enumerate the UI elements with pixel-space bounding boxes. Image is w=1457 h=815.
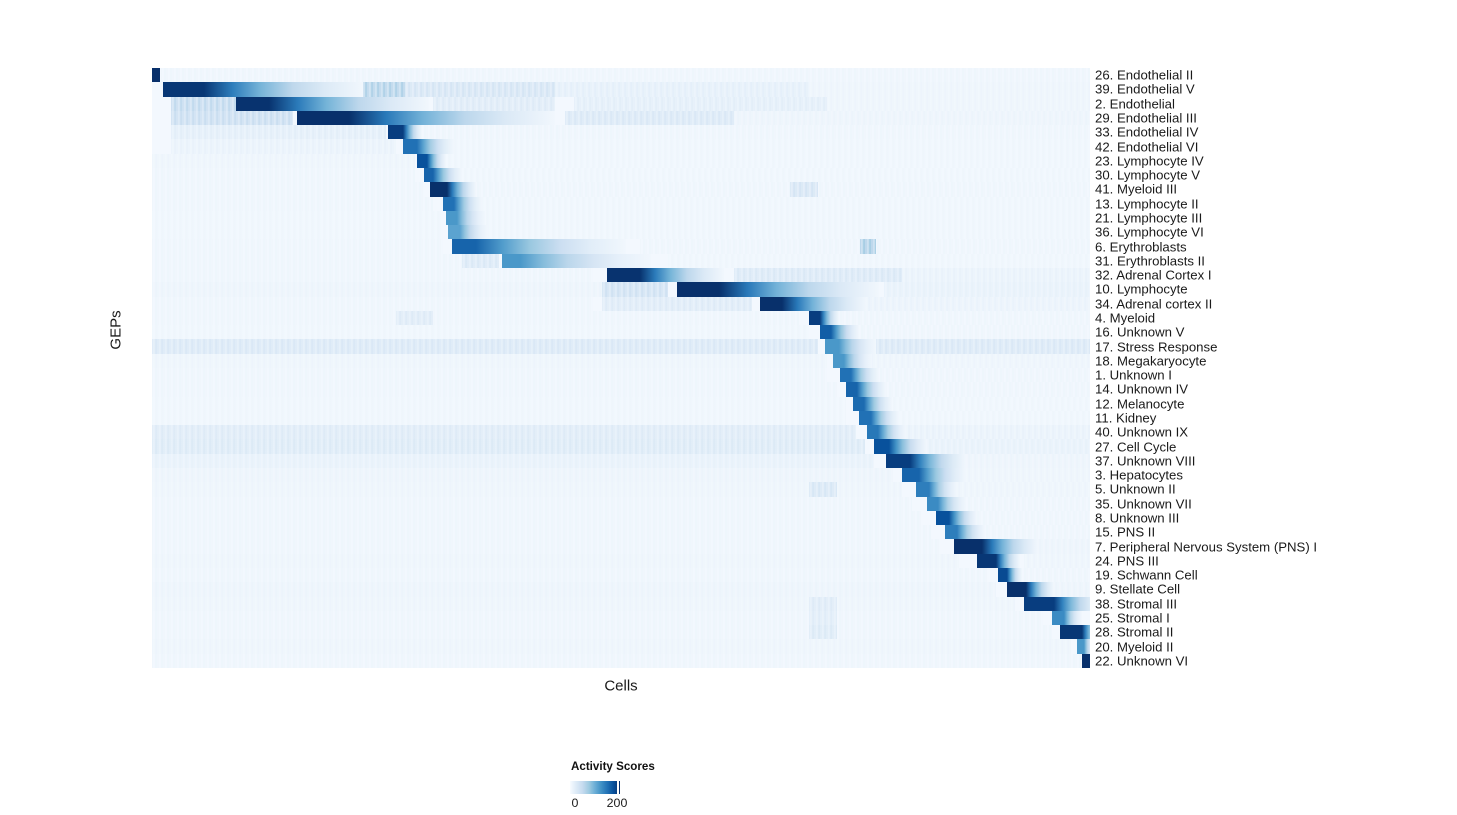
x-axis-label: Cells: [604, 678, 637, 695]
heatmap-background-band: [152, 339, 818, 354]
row-tick-label: 25. Stromal I: [1095, 612, 1170, 625]
heatmap-peak-block: [297, 111, 349, 126]
heatmap-background-band: [152, 154, 415, 169]
heatmap-background-band: [152, 625, 1052, 640]
row-tick-label: 24. PNS III: [1095, 554, 1159, 567]
row-tick-label: 26. Endothelial II: [1095, 69, 1193, 82]
heatmap-decay-tail: [851, 368, 879, 383]
colorbar-gradient: [570, 781, 620, 794]
row-tick-label: 1. Unknown I: [1095, 369, 1172, 382]
heatmap-decay-tail: [910, 454, 966, 469]
row-tick-label: 11. Kidney: [1095, 412, 1156, 425]
heatmap-row: [152, 211, 1090, 226]
row-tick-label: 22. Unknown VI: [1095, 654, 1188, 667]
heatmap-peak-block: [846, 382, 857, 397]
heatmap-row: [152, 482, 1090, 497]
heatmap-row: [152, 154, 1090, 169]
heatmap-peak-block: [448, 225, 459, 240]
heatmap-background-band: [152, 225, 443, 240]
row-tick-label: 16. Unknown V: [1095, 326, 1184, 339]
heatmap-peak-block: [867, 425, 878, 440]
heatmap-decay-tail: [1082, 625, 1090, 640]
heatmap-background-band: [152, 454, 874, 469]
heatmap-background-band: [856, 354, 1091, 369]
colorbar-tick-mark: [617, 781, 619, 794]
heatmap-decay-tail: [871, 411, 899, 426]
heatmap-row: [152, 468, 1090, 483]
heatmap-background-band: [959, 497, 1090, 512]
heatmap-decay-tail: [929, 482, 957, 497]
y-axis-label: GEPs: [108, 310, 125, 349]
heatmap-decay-tail: [844, 354, 872, 369]
heatmap-row: [152, 168, 1090, 183]
heatmap-background-band: [471, 225, 1090, 240]
heatmap-decay-tail: [878, 425, 906, 440]
heatmap-decay-tail: [839, 339, 877, 354]
heatmap-background-band: [809, 597, 837, 612]
row-tick-label: 6. Erythroblasts: [1095, 240, 1187, 253]
heatmap-background-band: [893, 411, 1090, 426]
heatmap-row: [152, 225, 1090, 240]
heatmap-peak-block: [945, 525, 957, 540]
heatmap-background-band: [152, 482, 902, 497]
heatmap-background-band: [152, 268, 593, 283]
heatmap-background-band: [152, 639, 1071, 654]
heatmap-row: [152, 554, 1090, 569]
heatmap-decay-tail: [831, 325, 859, 340]
heatmap-peak-block: [607, 268, 640, 283]
heatmap-background-band: [152, 168, 415, 183]
heatmap-peak-block: [417, 154, 426, 169]
heatmap-background-band: [152, 654, 1081, 668]
heatmap-decay-tail: [454, 197, 482, 212]
heatmap-peak-block: [760, 297, 783, 312]
heatmap-decay-tail: [996, 554, 1019, 569]
heatmap-background-band: [809, 611, 837, 626]
heatmap-decay-tail: [820, 311, 839, 326]
heatmap-decay-tail: [919, 468, 966, 483]
heatmap-row: [152, 97, 1090, 112]
heatmap-background-band: [152, 282, 602, 297]
heatmap-background-band: [809, 82, 1090, 97]
heatmap-background-band: [152, 354, 827, 369]
heatmap-background-band: [1052, 582, 1090, 597]
heatmap-row: [152, 111, 1090, 126]
row-tick-label: 41. Myeloid III: [1095, 183, 1177, 196]
heatmap-peak-block: [424, 168, 433, 183]
heatmap-background-band: [884, 397, 1090, 412]
heatmap-peak-block: [163, 82, 203, 97]
heatmap-background-band: [152, 468, 893, 483]
heatmap-decay-tail: [1064, 611, 1083, 626]
heatmap-background-band: [734, 268, 903, 283]
heatmap-peak-block: [677, 282, 719, 297]
heatmap-background-band: [152, 425, 856, 440]
row-tick-label: 10. Lymphocyte: [1095, 283, 1188, 296]
heatmap-peak-block: [840, 368, 851, 383]
colorbar-tick-label: 0: [572, 796, 579, 810]
heatmap-decay-tail: [427, 154, 446, 169]
heatmap-background-band: [462, 182, 1090, 197]
heatmap-row: [152, 611, 1090, 626]
heatmap-background-band: [565, 111, 734, 126]
heatmap-background-band: [152, 554, 959, 569]
heatmap-background-band: [152, 411, 846, 426]
heatmap-peak-block: [1077, 639, 1085, 654]
heatmap-background-band: [396, 311, 434, 326]
heatmap-background-band: [152, 397, 846, 412]
heatmap-row: [152, 125, 1090, 140]
heatmap-background-band: [959, 468, 1090, 483]
heatmap-row: [152, 425, 1090, 440]
heatmap-row: [152, 325, 1090, 340]
heatmap-background-band: [433, 139, 1090, 154]
heatmap-peak-block: [916, 482, 928, 497]
heatmap-row: [152, 582, 1090, 597]
heatmap-row: [152, 497, 1090, 512]
heatmap-background-band: [471, 197, 1090, 212]
heatmap-row: [152, 254, 1090, 269]
heatmap-peak-block: [430, 182, 448, 197]
heatmap-background-band: [959, 454, 1090, 469]
heatmap-background-band: [860, 239, 876, 254]
heatmap-decay-tail: [1007, 568, 1021, 583]
row-tick-label: 8. Unknown III: [1095, 512, 1179, 525]
heatmap-background-band: [152, 539, 940, 554]
heatmap-background-band: [152, 311, 799, 326]
heatmap-peak-block: [502, 254, 520, 269]
heatmap-decay-tail: [949, 511, 977, 526]
heatmap-row: [152, 639, 1090, 654]
heatmap-background-band: [884, 282, 1090, 297]
heatmap-peak-block: [936, 511, 949, 526]
heatmap-row: [152, 297, 1090, 312]
row-tick-label: 39. Endothelial V: [1095, 83, 1195, 96]
heatmap-peak-block: [954, 539, 982, 554]
row-tick-label: 5. Unknown II: [1095, 483, 1176, 496]
heatmap-background-band: [865, 297, 1090, 312]
heatmap-peak-block: [853, 397, 864, 412]
heatmap-background-band: [902, 439, 1090, 454]
heatmap-row: [152, 454, 1090, 469]
row-tick-label: 37. Unknown VIII: [1095, 454, 1195, 467]
heatmap-decay-tail: [403, 125, 422, 140]
heatmap-background-band: [161, 68, 1090, 83]
heatmap-decay-tail: [433, 168, 461, 183]
row-tick-label: 23. Lymphocyte IV: [1095, 154, 1204, 167]
heatmap-background-band: [443, 168, 1090, 183]
heatmap-decay-tail: [938, 497, 966, 512]
row-tick-label: 9. Stellate Cell: [1095, 583, 1180, 596]
heatmap-row: [152, 68, 1090, 83]
heatmap-peak-block: [998, 568, 1007, 583]
heatmap-decay-tail: [1026, 582, 1054, 597]
heatmap-background-band: [462, 254, 500, 269]
heatmap-decay-tail: [457, 211, 485, 226]
heatmap-decay-tail: [476, 239, 626, 254]
heatmap-background-band: [171, 139, 396, 154]
heatmap-background-band: [152, 611, 1043, 626]
row-tick-label: 28. Stromal II: [1095, 626, 1173, 639]
heatmap-peak-block: [1060, 625, 1083, 640]
heatmap-background-band: [152, 297, 593, 312]
row-tick-label: 21. Lymphocyte III: [1095, 212, 1202, 225]
heatmap-row: [152, 539, 1090, 554]
heatmap-background-band: [809, 625, 837, 640]
heatmap-figure: GEPs Cells 26. Endothelial II39. Endothe…: [0, 0, 1457, 815]
row-tick-label: 36. Lymphocyte VI: [1095, 226, 1204, 239]
heatmap-background-band: [949, 482, 1090, 497]
row-tick-label: 33. Endothelial IV: [1095, 126, 1198, 139]
heatmap-decay-tail: [1054, 597, 1090, 612]
heatmap-background-band: [171, 97, 237, 112]
heatmap-peak-block: [452, 239, 475, 254]
heatmap-decay-tail: [204, 82, 363, 97]
heatmap-background-band: [574, 97, 827, 112]
heatmap-row: [152, 439, 1090, 454]
heatmap-peak-block: [1007, 582, 1026, 597]
heatmap-background-band: [837, 311, 1090, 326]
colorbar-tick-labels: 0200: [570, 796, 690, 812]
heatmap-peak-block: [833, 354, 844, 369]
row-tick-label: 19. Schwann Cell: [1095, 569, 1198, 582]
heatmap-background-band: [968, 511, 1090, 526]
heatmap-decay-tail: [460, 225, 488, 240]
heatmap-background-band: [152, 511, 921, 526]
row-tick-label: 38. Stromal III: [1095, 597, 1177, 610]
heatmap-peak-block: [820, 325, 831, 340]
heatmap-decay-tail: [520, 254, 651, 269]
heatmap-row: [152, 597, 1090, 612]
heatmap-background-band: [893, 425, 1090, 440]
heatmap-row: [152, 182, 1090, 197]
heatmap-row: [152, 82, 1090, 97]
heatmap-peak-block: [388, 125, 403, 140]
heatmap-background-band: [152, 254, 462, 269]
heatmap-background-band: [602, 282, 668, 297]
heatmap-background-band: [827, 97, 1090, 112]
heatmap-background-band: [405, 82, 555, 97]
heatmap-peak-block: [1082, 654, 1090, 668]
heatmap-row: [152, 382, 1090, 397]
heatmap-background-band: [152, 568, 987, 583]
heatmap-peak-block: [886, 454, 910, 469]
heatmap-decay-tail: [417, 139, 455, 154]
heatmap-background-band: [846, 325, 1090, 340]
heatmap-background-band: [1015, 568, 1090, 583]
row-tick-label: 12. Melanocyte: [1095, 397, 1184, 410]
heatmap-background-band: [152, 439, 865, 454]
row-tick-label: 42. Endothelial VI: [1095, 140, 1198, 153]
heatmap-background-band: [790, 182, 818, 197]
heatmap-row: [152, 654, 1090, 668]
heatmap-decay-tail: [982, 539, 1038, 554]
heatmap-peak-block: [1024, 597, 1054, 612]
heatmap-row: [152, 397, 1090, 412]
heatmap-background-band: [433, 97, 555, 112]
heatmap-row: [152, 139, 1090, 154]
heatmap-background-band: [865, 368, 1090, 383]
row-tick-label: 14. Unknown IV: [1095, 383, 1188, 396]
heatmap-row: [152, 625, 1090, 640]
heatmap-background-band: [152, 182, 424, 197]
heatmap-peak-block: [236, 97, 269, 112]
row-tick-label: 20. Myeloid II: [1095, 640, 1173, 653]
heatmap-decay-tail: [857, 382, 885, 397]
heatmap-background-band: [415, 125, 1090, 140]
heatmap-row: [152, 411, 1090, 426]
row-tick-label: 29. Endothelial III: [1095, 112, 1197, 125]
row-tick-label: 7. Peripheral Nervous System (PNS) I: [1095, 540, 1317, 553]
heatmap-background-band: [171, 111, 293, 126]
heatmap-background-band: [152, 525, 931, 540]
heatmap-peak-block: [809, 311, 820, 326]
row-tick-label: 15. PNS II: [1095, 526, 1155, 539]
colorbar-tick-label: 200: [607, 796, 628, 810]
row-tick-label: 31. Erythroblasts II: [1095, 254, 1205, 267]
heatmap-peak-block: [977, 554, 996, 569]
heatmap-background-band: [171, 125, 387, 140]
heatmap-row: [152, 339, 1090, 354]
heatmap-row: [152, 197, 1090, 212]
heatmap-decay-tail: [889, 439, 927, 454]
row-tick-labels: 26. Endothelial II39. Endothelial V2. En…: [1095, 68, 1455, 668]
row-tick-label: 34. Adrenal cortex II: [1095, 297, 1212, 310]
heatmap-peak-block: [874, 439, 889, 454]
row-tick-label: 35. Unknown VII: [1095, 497, 1192, 510]
heatmap-background-band: [152, 597, 1015, 612]
row-tick-label: 3. Hepatocytes: [1095, 469, 1183, 482]
heatmap-plot-area[interactable]: [152, 68, 1090, 668]
heatmap-decay-tail: [1084, 639, 1090, 654]
heatmap-decay-tail: [782, 297, 866, 312]
row-tick-label: 32. Adrenal Cortex I: [1095, 269, 1212, 282]
heatmap-peak-block: [446, 211, 457, 226]
heatmap-decay-tail: [349, 111, 555, 126]
heatmap-peak-block: [927, 497, 938, 512]
heatmap-background-band: [555, 82, 808, 97]
heatmap-background-band: [152, 325, 809, 340]
colorbar-legend: Activity Scores 0200: [570, 760, 770, 773]
heatmap-row: [152, 354, 1090, 369]
heatmap-peak-block: [152, 68, 160, 83]
heatmap-peak-block: [859, 411, 870, 426]
row-tick-label: 40. Unknown IX: [1095, 426, 1188, 439]
heatmap-peak-block: [443, 197, 454, 212]
heatmap-background-band: [734, 111, 1090, 126]
heatmap-peak-block: [403, 139, 416, 154]
heatmap-row: [152, 511, 1090, 526]
heatmap-decay-tail: [269, 97, 428, 112]
row-tick-label: 17. Stress Response: [1095, 340, 1217, 353]
heatmap-decay-tail: [640, 268, 724, 283]
row-tick-label: 27. Cell Cycle: [1095, 440, 1176, 453]
heatmap-background-band: [152, 239, 443, 254]
heatmap-decay-tail: [864, 397, 892, 412]
heatmap-background-band: [602, 297, 752, 312]
heatmap-background-band: [152, 211, 443, 226]
heatmap-row: [152, 268, 1090, 283]
heatmap-background-band: [874, 382, 1090, 397]
heatmap-background-band: [1024, 554, 1090, 569]
heatmap-row: [152, 568, 1090, 583]
heatmap-row: [152, 239, 1090, 254]
row-tick-label: 2. Endothelial: [1095, 97, 1175, 110]
heatmap-decay-tail: [719, 282, 878, 297]
heatmap-peak-block: [825, 339, 838, 354]
heatmap-row: [152, 525, 1090, 540]
heatmap-background-band: [152, 382, 837, 397]
heatmap-background-band: [433, 154, 1090, 169]
heatmap-background-band: [809, 482, 837, 497]
heatmap-peak-block: [902, 468, 919, 483]
colorbar-title: Activity Scores: [571, 760, 770, 773]
heatmap-background-band: [902, 268, 1090, 283]
row-tick-label: 4. Myeloid: [1095, 312, 1155, 325]
heatmap-background-band: [152, 582, 996, 597]
heatmap-background-band: [668, 254, 1090, 269]
heatmap-row: [152, 282, 1090, 297]
row-tick-label: 18. Megakaryocyte: [1095, 354, 1206, 367]
heatmap-background-band: [152, 368, 827, 383]
heatmap-background-band: [152, 197, 433, 212]
heatmap-background-band: [977, 525, 1090, 540]
heatmap-peak-block: [1052, 611, 1063, 626]
heatmap-decay-tail: [447, 182, 475, 197]
heatmap-decay-tail: [957, 525, 985, 540]
heatmap-background-band: [846, 339, 1090, 354]
row-tick-label: 13. Lymphocyte II: [1095, 197, 1199, 210]
heatmap-background-band: [471, 211, 1090, 226]
row-tick-label: 30. Lymphocyte V: [1095, 169, 1200, 182]
heatmap-background-band: [152, 497, 912, 512]
heatmap-row: [152, 368, 1090, 383]
heatmap-row: [152, 311, 1090, 326]
